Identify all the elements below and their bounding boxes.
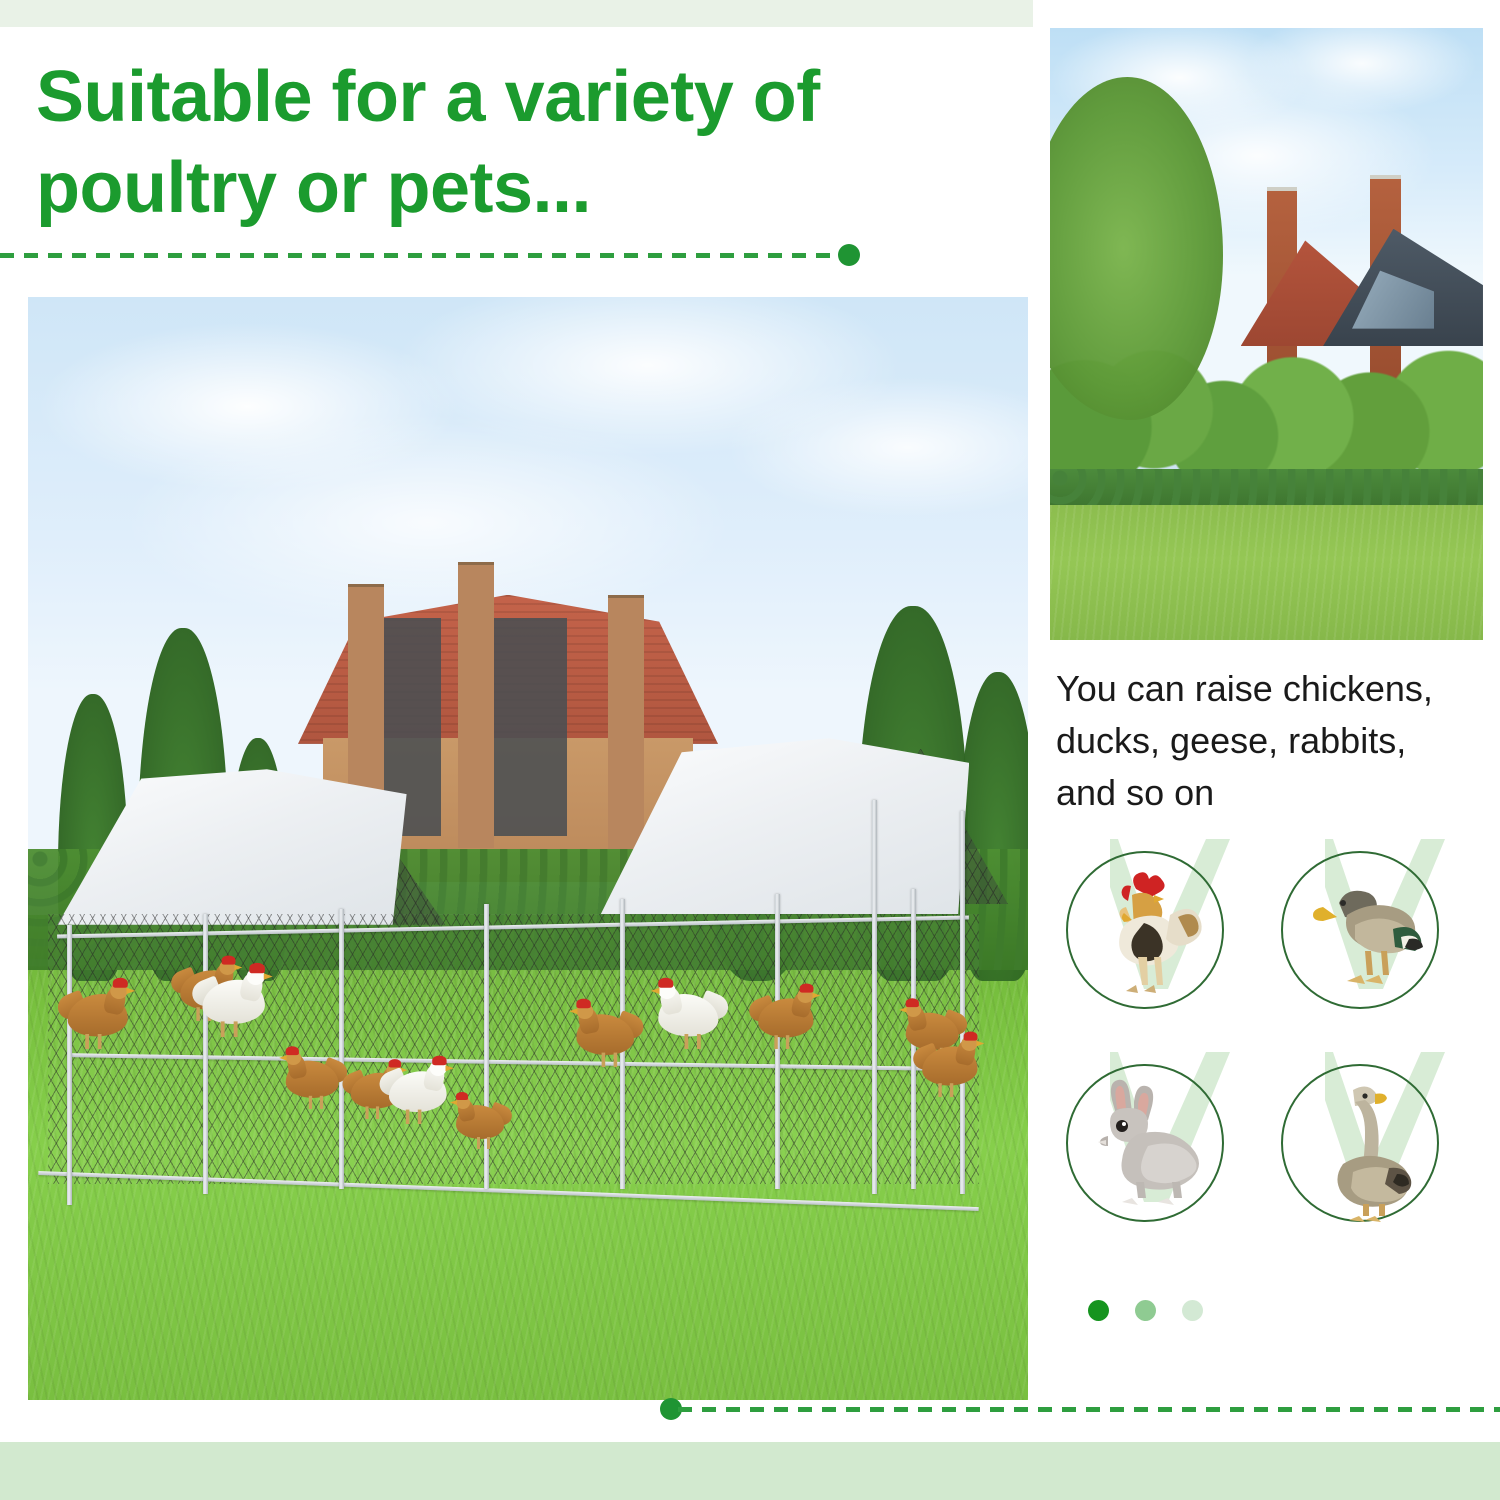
duck-icon bbox=[1281, 851, 1439, 1009]
chicken-comb bbox=[658, 978, 673, 988]
lawn-grass bbox=[1050, 505, 1483, 640]
chicken-comb bbox=[456, 1092, 468, 1100]
carousel-dot-1[interactable] bbox=[1088, 1300, 1109, 1321]
chicken-leg bbox=[487, 1137, 490, 1149]
coop-post bbox=[203, 914, 208, 1194]
goose-icon bbox=[1281, 1064, 1439, 1222]
chicken-comb bbox=[432, 1056, 446, 1066]
chicken-leg bbox=[234, 1021, 238, 1037]
chicken-brown bbox=[448, 1097, 510, 1149]
bottom-accent-band bbox=[0, 1442, 1500, 1500]
chicken-leg bbox=[774, 1035, 777, 1049]
chicken-white bbox=[195, 969, 276, 1037]
chicken-leg bbox=[477, 1137, 480, 1149]
carousel-dot-2[interactable] bbox=[1135, 1300, 1156, 1321]
chicken-leg bbox=[365, 1106, 368, 1119]
chicken-beak bbox=[899, 1007, 907, 1013]
chicken-white bbox=[382, 1062, 456, 1124]
chicken-leg bbox=[614, 1053, 618, 1067]
chicken-beak bbox=[569, 1008, 577, 1014]
chicken-white bbox=[648, 984, 726, 1049]
animal-icon-grid bbox=[1062, 845, 1482, 1265]
chicken-comb bbox=[249, 963, 265, 973]
canopy-roof-left bbox=[57, 769, 406, 925]
chicken-leg bbox=[697, 1034, 701, 1049]
chicken-leg bbox=[602, 1053, 606, 1067]
chicken-beak bbox=[445, 1065, 453, 1071]
chicken-comb bbox=[113, 978, 128, 988]
divider-dot bbox=[838, 244, 860, 266]
chicken-leg bbox=[320, 1096, 323, 1109]
wire-mesh-walls bbox=[48, 914, 979, 1184]
chicken-comb bbox=[222, 955, 236, 964]
dashed-line bbox=[678, 1407, 1500, 1412]
animal-card-goose bbox=[1277, 1058, 1477, 1258]
coop-door-frame bbox=[960, 811, 965, 1195]
top-accent-band bbox=[0, 0, 1033, 27]
coop-door-frame bbox=[872, 800, 877, 1194]
chicken-beak bbox=[264, 973, 273, 980]
chicken-comb bbox=[286, 1046, 299, 1055]
chicken-leg bbox=[938, 1083, 941, 1097]
page-title: Suitable for a variety of poultry or pet… bbox=[36, 52, 996, 233]
dashed-line bbox=[0, 253, 842, 258]
chicken-leg bbox=[309, 1096, 312, 1109]
chicken-leg bbox=[98, 1034, 102, 1049]
coop-post bbox=[67, 925, 72, 1205]
chicken-beak bbox=[450, 1100, 457, 1105]
chicken-leg bbox=[376, 1106, 379, 1119]
animal-card-duck bbox=[1277, 845, 1477, 1045]
chicken-brown bbox=[915, 1037, 986, 1097]
chicken-comb bbox=[576, 999, 590, 1009]
chicken-leg bbox=[418, 1110, 422, 1124]
top-divider bbox=[0, 252, 860, 258]
carousel-dot-3[interactable] bbox=[1182, 1300, 1203, 1321]
chicken-brown bbox=[751, 989, 822, 1049]
chicken-beak bbox=[651, 988, 660, 994]
bottom-divider bbox=[660, 1406, 1500, 1412]
supporting-copy: You can raise chickens, ducks, geese, ra… bbox=[1056, 663, 1476, 818]
chicken-leg bbox=[406, 1110, 410, 1124]
chicken-beak bbox=[812, 993, 820, 999]
chicken-comb bbox=[800, 983, 814, 992]
animal-card-rooster bbox=[1062, 845, 1262, 1045]
coop-post bbox=[339, 909, 344, 1189]
chicken-brown bbox=[277, 1052, 345, 1109]
rabbit-icon bbox=[1066, 1064, 1224, 1222]
rooster-icon bbox=[1066, 851, 1224, 1009]
chicken-leg bbox=[221, 1021, 225, 1037]
main-product-photo bbox=[28, 297, 1028, 1400]
chicken-beak bbox=[279, 1055, 287, 1061]
chicken-brown bbox=[567, 1005, 641, 1067]
chicken-beak bbox=[127, 988, 136, 994]
chicken-leg bbox=[786, 1035, 789, 1049]
carousel-dots[interactable] bbox=[1088, 1300, 1203, 1321]
chicken-brown bbox=[60, 984, 138, 1049]
chicken-beak bbox=[976, 1041, 984, 1047]
chicken-leg bbox=[685, 1034, 689, 1049]
backyard-lawn-photo bbox=[1050, 28, 1483, 640]
chicken-leg bbox=[950, 1083, 953, 1097]
chicken-comb bbox=[906, 998, 919, 1007]
animal-card-rabbit bbox=[1062, 1058, 1262, 1258]
chicken-leg bbox=[85, 1034, 89, 1049]
chicken-comb bbox=[964, 1031, 978, 1040]
